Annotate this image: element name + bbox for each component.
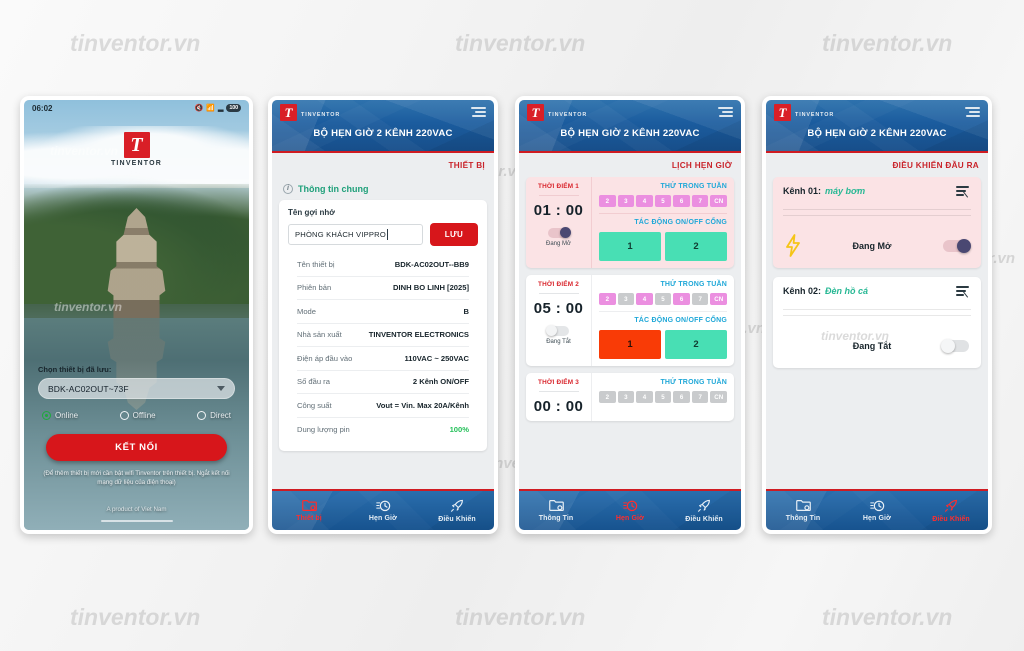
device-spec-list: Tên thiết bị BDK-AC02OUT--BB9 Phiên bản … [288,253,478,441]
channel-name: Đèn hồ cá [825,286,868,296]
tab-control[interactable]: Điều Khiển [914,491,988,530]
tab-timer-label: Hẹn Giờ [863,515,891,522]
timer-name: THỜI ĐIỂM 3 [538,379,579,386]
home-indicator [101,520,173,522]
splash-background: 06:02 🔇 📶 ▂ 100 TINVENTOR tinventor.vn t… [24,100,249,530]
section-label-control: ĐIỀU KHIỂN ĐẦU RA [766,153,988,177]
spec-key: Nhà sản xuất [297,330,342,339]
table-row: Công suất Vout = Vin. Max 20A/Kênh [297,394,469,418]
action-header: TÁC ĐỘNG ON/OFF CỔNG [599,317,727,324]
nickname-label: Tên gợi nhớ [288,208,478,217]
channel-label: Kênh 02: [783,286,821,296]
device-folder-icon [302,499,317,512]
day-chip[interactable]: 7 [692,195,709,207]
section-label-device: THIẾT BỊ [272,153,494,177]
header-logo: TINVENTOR [527,104,587,121]
app-title: BỘ HẸN GIỜ 2 KÊNH 220VAC [272,128,494,139]
channel-card[interactable]: Kênh 01:máy bơm Đang Mở [773,177,981,268]
saved-device-select[interactable]: BDK-AC02OUT~73F [38,378,235,399]
weekday-header: THỨ TRONG TUẦN [599,281,727,288]
divider [599,311,727,312]
hamburger-menu-icon[interactable] [965,107,980,118]
weekday-selector: 2 3 4 5 6 7 CN [599,195,727,207]
general-info-label: Thông tin chung [298,184,368,194]
timer-state-label: Đang Mở [546,241,571,247]
general-info-heading: i Thông tin chung [279,177,487,200]
tab-control-label: Điều Khiển [932,516,970,523]
day-chip[interactable]: 3 [618,293,635,305]
app-title: BỘ HẸN GIỜ 2 KÊNH 220VAC [766,128,988,139]
tab-info-label: Thông Tin [786,515,821,522]
device-folder-icon [549,499,564,512]
timer-state-label: Đang Tắt [546,339,571,345]
timer-name: THỜI ĐIỂM 1 [538,183,579,190]
phone-output-control-screen: TINVENTOR BỘ HẸN GIỜ 2 KÊNH 220VAC ĐIỀU … [762,96,992,534]
hamburger-menu-icon[interactable] [471,107,486,118]
mute-icon: 🔇 [195,104,204,112]
spec-key: Tên thiết bị [297,260,335,269]
radio-online-label: Online [55,411,78,420]
day-chip[interactable]: 5 [655,195,672,207]
lightning-bolt-icon [785,334,801,358]
spec-key: Điện áp đầu vào [297,354,352,363]
lightning-bolt-icon [785,234,801,258]
phone-device-info-screen: TINVENTOR BỘ HẸN GIỜ 2 KÊNH 220VAC THIẾT… [268,96,498,534]
signal-icon: ▂ [218,104,223,112]
app-header: TINVENTOR BỘ HẸN GIỜ 2 KÊNH 220VAC [766,100,988,153]
tab-info-label: Thông Tin [539,515,574,522]
phone-timer-schedule-screen: TINVENTOR BỘ HẸN GIỜ 2 KÊNH 220VAC LỊCH … [515,96,745,534]
nickname-input[interactable]: PHÒNG KHÁCH VIPPRO [288,224,423,245]
connect-hint-text: (Để thêm thiết bị mới cần bật wifi Tinve… [38,470,235,488]
day-chip[interactable]: 4 [636,293,653,305]
hamburger-menu-icon[interactable] [718,107,733,118]
timer-time: 01 : 00 [534,202,584,219]
tab-control[interactable]: Điều Khiển [667,491,741,530]
splash-brand: TINVENTOR [24,132,249,167]
timer-toggle[interactable] [548,228,569,238]
day-chip[interactable]: 2 [599,195,616,207]
saved-device-label: Chọn thiết bị đã lưu: [38,365,235,374]
channel-action-button[interactable]: 2 [665,232,727,261]
connect-button[interactable]: KẾT NỐI [46,434,227,461]
day-chip[interactable]: 3 [618,195,635,207]
timer-name: THỜI ĐIỂM 2 [538,281,579,288]
spec-key: Công suất [297,401,332,410]
rocket-icon [450,499,465,513]
nickname-value: PHÒNG KHÁCH VIPPRO [295,230,386,239]
day-chip[interactable]: 6 [673,391,690,403]
status-bar-icons: 🔇 📶 ▂ 100 [195,104,241,112]
info-icon: i [283,184,293,194]
radio-dot-icon [42,411,51,420]
channel-action-button[interactable]: 1 [599,232,661,261]
spec-key: Mode [297,307,316,316]
bottom-tab-bar: Thông Tin Hẹn Giờ Điều [766,489,988,530]
day-chip[interactable]: 4 [636,195,653,207]
day-chip[interactable]: 5 [655,391,672,403]
day-chip[interactable]: 4 [636,391,653,403]
splash-screen-body: 06:02 🔇 📶 ▂ 100 TINVENTOR tinventor.vn t… [24,100,249,530]
tinventor-logo-icon [527,104,544,121]
text-caret [387,229,388,240]
tab-device[interactable]: Thiết bị [272,491,346,530]
channel-label: Kênh 01: [783,186,821,196]
spec-value: DINH BO LINH [2025] [393,283,469,292]
channel-action-group: 1 2 [599,330,727,359]
day-chip[interactable]: 7 [692,391,709,403]
radio-online[interactable]: Online [42,411,78,420]
divider [539,391,579,392]
header-logo: TINVENTOR [280,104,340,121]
action-header: TÁC ĐỘNG ON/OFF CỔNG [599,219,727,226]
tab-timer[interactable]: Hẹn Giờ [840,491,914,530]
spec-key: Phiên bản [297,283,331,292]
chevron-down-icon [217,386,225,391]
table-row: Dung lượng pin 100% [297,418,469,442]
radio-direct-label: Direct [210,411,231,420]
tinventor-logo-icon [280,104,297,121]
channel-toggle[interactable] [943,340,969,352]
connection-mode-group: Online Offline Direct [42,411,231,420]
header-logo: TINVENTOR [774,104,834,121]
channel-card[interactable]: Kênh 02:Đèn hồ cá Đang Tắt [773,277,981,368]
divider [783,309,971,316]
table-row: Phiên bản DINH BO LINH [2025] [297,277,469,301]
tab-timer-label: Hẹn Giờ [369,515,397,522]
brand-name: TINVENTOR [301,112,340,118]
weekday-header: THỨ TRONG TUẦN [599,183,727,190]
nickname-card: Tên gợi nhớ PHÒNG KHÁCH VIPPRO LƯU Tên t… [279,200,487,451]
divider [599,213,727,214]
saved-device-value: BDK-AC02OUT~73F [48,384,129,394]
status-bar-time: 06:02 [32,104,52,113]
save-button[interactable]: LƯU [430,223,478,246]
spec-value: 2 Kênh ON/OFF [413,377,469,386]
section-label-schedule: LỊCH HẸN GIỜ [519,153,741,177]
weekday-selector: 2 3 4 5 6 7 CN [599,391,727,403]
rocket-icon [944,499,959,513]
tab-control[interactable]: Điều Khiển [420,491,494,530]
phone-splash-screen: 06:02 🔇 📶 ▂ 100 TINVENTOR tinventor.vn t… [20,96,253,534]
spec-value: BDK-AC02OUT--BB9 [395,260,469,269]
bottom-tab-bar: Thiết bị Hẹn Giờ Điều [272,489,494,530]
channel-state: Đang Tắt [853,341,892,351]
weekday-header: THỨ TRONG TUẦN [599,379,727,386]
brand-name: TINVENTOR [795,112,834,118]
device-folder-icon [796,499,811,512]
day-chip[interactable]: 3 [618,391,635,403]
edit-icon[interactable] [956,286,971,299]
tinventor-logo-icon [124,132,150,158]
day-chip[interactable]: 6 [673,293,690,305]
radio-offline[interactable]: Offline [120,411,156,420]
table-row: Mode B [297,300,469,324]
day-chip[interactable]: 5 [655,293,672,305]
timer-time: 05 : 00 [534,300,584,317]
table-row: Tên thiết bị BDK-AC02OUT--BB9 [297,253,469,277]
divider [783,209,971,216]
spec-key: Dung lượng pin [297,425,350,434]
product-footnote: A product of Viet Nam [38,506,235,513]
edit-icon[interactable] [956,186,971,199]
tab-control-label: Điều Khiển [685,516,723,523]
clock-icon [870,499,885,512]
day-chip[interactable]: CN [710,293,727,305]
clock-icon [623,499,638,512]
day-chip[interactable]: 7 [692,293,709,305]
battery-value: 100% [450,425,469,434]
table-row: Điện áp đầu vào 110VAC ~ 250VAC [297,347,469,371]
radio-direct[interactable]: Direct [197,411,231,420]
spec-value: 110VAC ~ 250VAC [404,354,469,363]
table-row: Nhà sản xuất TINVENTOR ELECTRONICS [297,324,469,348]
timer-slot[interactable]: THỜI ĐIỂM 3 00 : 00 THỨ TRONG TUẦN 2 3 4… [526,373,734,421]
app-header: TINVENTOR BỘ HẸN GIỜ 2 KÊNH 220VAC [519,100,741,153]
clock-icon [376,499,391,512]
weekday-selector: 2 3 4 5 6 7 CN [599,293,727,305]
spec-value: B [464,307,469,316]
tab-control-label: Điều Khiển [438,516,476,523]
radio-dot-icon [120,411,129,420]
day-chip[interactable]: 2 [599,293,616,305]
timer-time: 00 : 00 [534,398,584,415]
radio-offline-label: Offline [133,411,156,420]
channel-state: Đang Mở [853,241,892,251]
brand-name: TINVENTOR [548,112,587,118]
app-title: BỘ HẸN GIỜ 2 KÊNH 220VAC [519,128,741,139]
spec-value: Vout = Vin. Max 20A/Kênh [376,401,469,410]
tab-timer[interactable]: Hẹn Giờ [346,491,420,530]
app-header: TINVENTOR BỘ HẸN GIỜ 2 KÊNH 220VAC [272,100,494,153]
connect-panel: Chọn thiết bị đã lưu: BDK-AC02OUT~73F On… [24,365,249,530]
divider [539,195,579,196]
timer-slot[interactable]: THỜI ĐIỂM 1 01 : 00 Đang Mở THỨ TRONG TU… [526,177,734,268]
day-chip[interactable]: 2 [599,391,616,403]
tab-info[interactable]: Thông Tin [519,491,593,530]
timer-toggle[interactable] [548,326,569,336]
tab-device-label: Thiết bị [296,515,322,522]
bottom-tab-bar: Thông Tin Hẹn Giờ Điều [519,489,741,530]
spec-key: Số đầu ra [297,377,330,386]
radio-dot-icon [197,411,206,420]
channel-name: máy bơm [825,186,865,196]
day-chip[interactable]: CN [710,195,727,207]
spec-value: TINVENTOR ELECTRONICS [369,330,469,339]
tab-info[interactable]: Thông Tin [766,491,840,530]
day-chip[interactable]: 6 [673,195,690,207]
tinventor-logo-icon [774,104,791,121]
tab-timer-label: Hẹn Giờ [616,515,644,522]
tab-timer[interactable]: Hẹn Giờ [593,491,667,530]
channel-toggle[interactable] [943,240,969,252]
brand-name: TINVENTOR [24,160,249,167]
channel-action-button[interactable]: 1 [599,330,661,359]
status-bar: 06:02 🔇 📶 ▂ 100 [24,100,249,116]
rocket-icon [697,499,712,513]
divider [539,293,579,294]
battery-icon: 100 [226,104,241,112]
day-chip[interactable]: CN [710,391,727,403]
channel-action-group: 1 2 [599,232,727,261]
timer-slot[interactable]: THỜI ĐIỂM 2 05 : 00 Đang Tắt THỨ TRONG T… [526,275,734,366]
table-row: Số đầu ra 2 Kênh ON/OFF [297,371,469,395]
channel-action-button[interactable]: 2 [665,330,727,359]
wifi-icon: 📶 [206,104,215,112]
